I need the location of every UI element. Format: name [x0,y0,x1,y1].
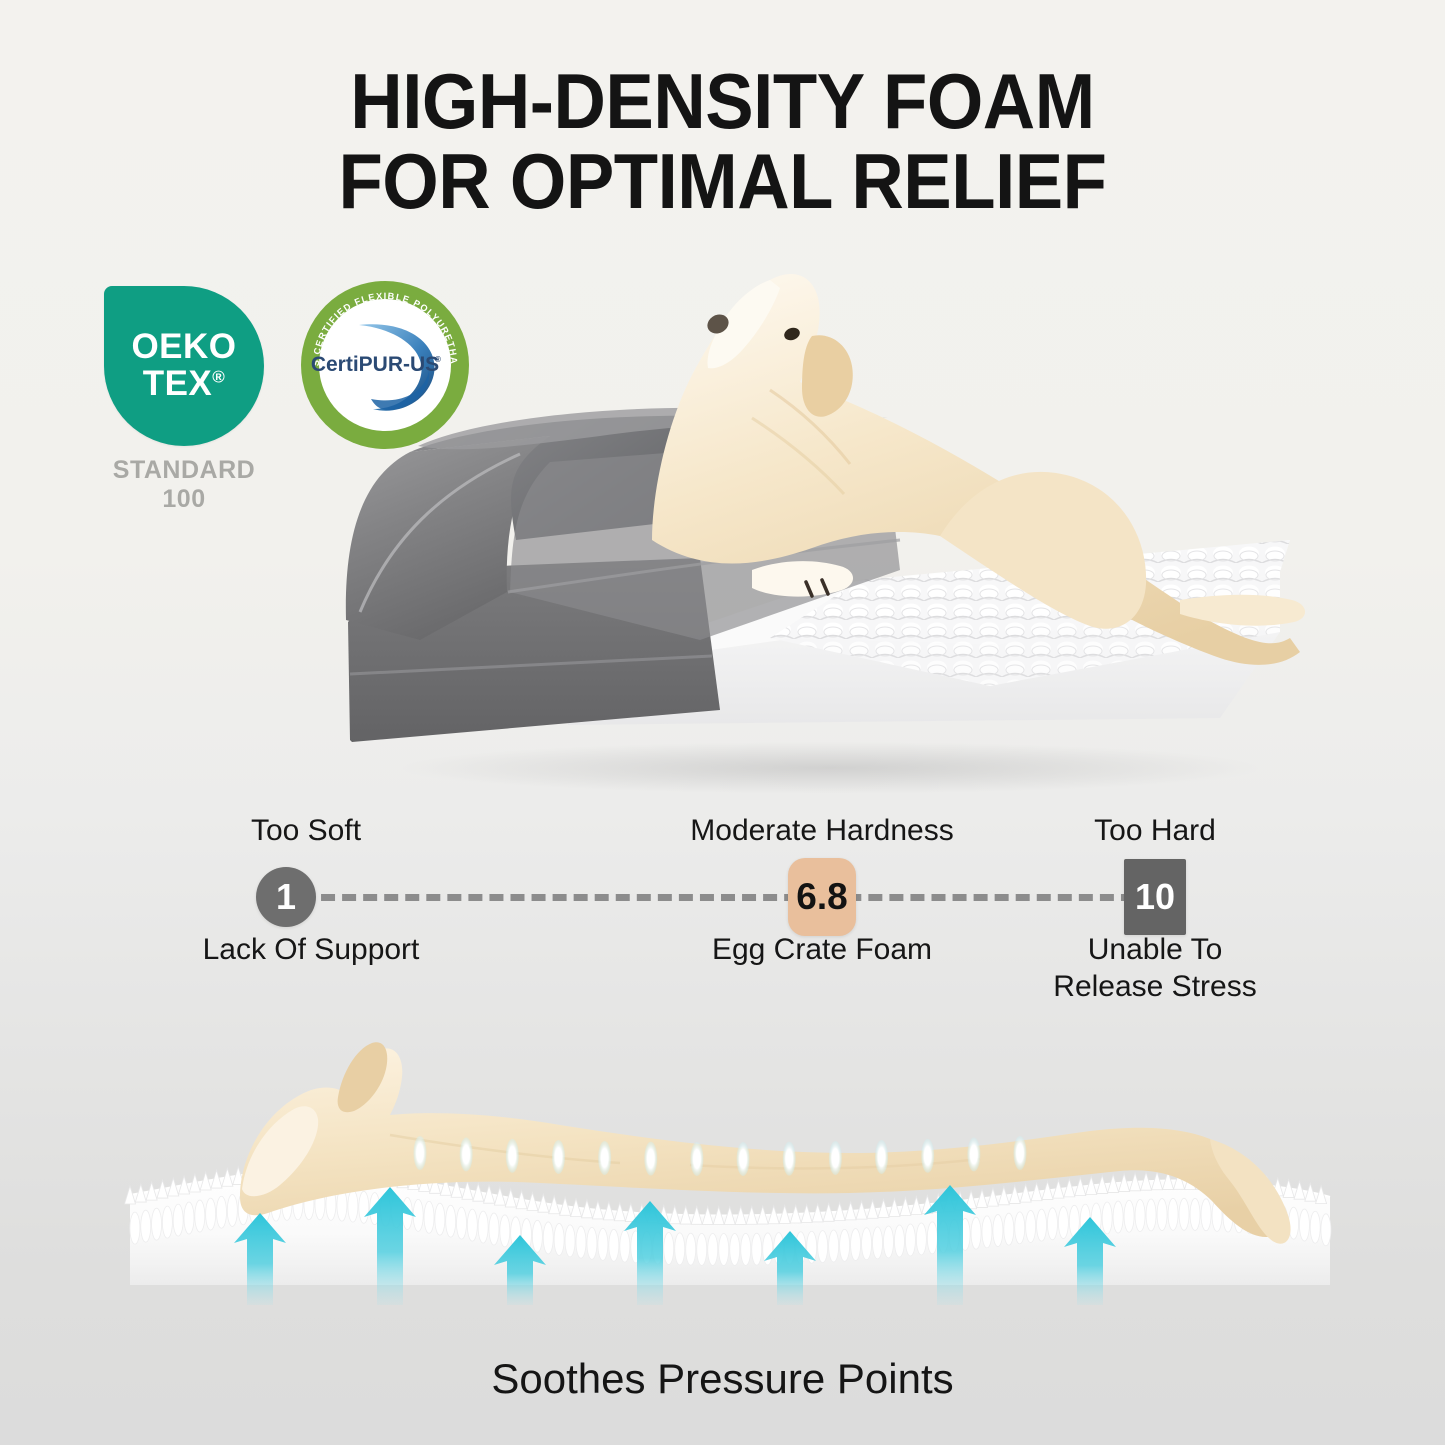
hardness-scale: Too Soft Moderate Hardness Too Hard 1 6.… [0,806,1445,1006]
pressure-point-illustration [90,985,1355,1325]
scale-dashed-line [300,894,1156,901]
title-line-1: HIGH-DENSITY FOAM [51,62,1395,142]
scale-top-label-too-soft: Too Soft [251,814,361,848]
oeko-tex-line-1: OEKO [131,329,236,366]
pressure-illustration-svg [90,985,1355,1325]
scale-bottom-label-egg-crate-foam: Egg Crate Foam [712,932,932,969]
oeko-tex-standard-label: STANDARD 100 [66,456,302,514]
oeko-tex-droplet-icon: OEKO TEX® [104,286,264,446]
scale-bottom-label-line-1: Egg Crate Foam [712,932,932,969]
hero-illustration [300,240,1310,800]
product-infographic: HIGH-DENSITY FOAM FOR OPTIMAL RELIEF OEK… [0,0,1445,1445]
scale-top-label-moderate: Moderate Hardness [690,814,953,848]
scale-badge-6-8: 6.8 [788,858,856,936]
scale-top-label-too-hard: Too Hard [1094,814,1216,848]
oeko-tex-standard-line-1: STANDARD [66,456,302,485]
oeko-tex-standard-line-2: 100 [66,485,302,514]
footer-caption: Soothes Pressure Points [0,1355,1445,1403]
scale-bottom-label-line-1: Lack Of Support [203,932,420,969]
product-photo-dog-on-bed [300,240,1310,800]
scale-badge-10: 10 [1124,859,1186,935]
title-line-2: FOR OPTIMAL RELIEF [51,142,1395,222]
oeko-tex-badge: OEKO TEX® [104,286,264,446]
scale-bottom-label-lack-of-support: Lack Of Support [203,932,420,969]
registered-mark-icon: ® [212,367,225,386]
scale-bottom-label-line-1: Unable To [1053,932,1256,969]
scale-badge-1: 1 [256,867,316,927]
page-title: HIGH-DENSITY FOAM FOR OPTIMAL RELIEF [0,62,1445,221]
oeko-tex-line-2: TEX® [143,366,226,403]
